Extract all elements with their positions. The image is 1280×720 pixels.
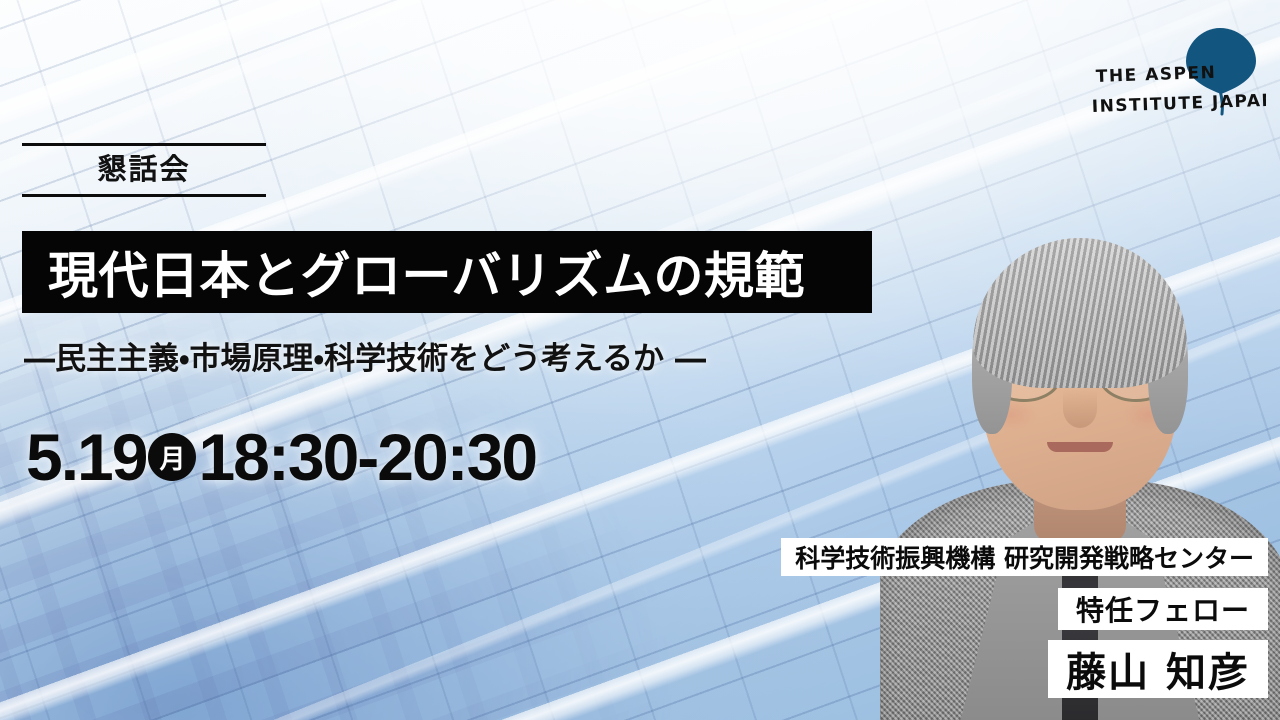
speaker-name: 藤山 知彦 xyxy=(1048,640,1268,698)
kicker-banner: 懇話会 xyxy=(22,143,266,197)
day-of-week-badge: 月 xyxy=(148,433,196,481)
speaker-portrait-photo xyxy=(880,160,1280,720)
page-title: 現代日本とグローバリズムの規範 xyxy=(22,236,805,308)
page-subtitle: ―民主主義・市場原理・科学技術をどう考えるか ― xyxy=(24,333,706,378)
logo-line-2: INSTITUTE JAPAN xyxy=(1091,91,1266,117)
title-bar: 現代日本とグローバリズムの規範 xyxy=(22,231,872,313)
speaker-organization: 科学技術振興機構 研究開発戦略センター xyxy=(781,538,1268,576)
portrait-mouth xyxy=(1047,442,1113,452)
aspen-institute-japan-logo: THE ASPEN INSTITUTE JAPAN xyxy=(1090,16,1266,128)
event-time: 18:30-20:30 xyxy=(198,424,536,490)
event-poster: THE ASPEN INSTITUTE JAPAN 懇話会 現代日本とグローバリ… xyxy=(0,0,1280,720)
speaker-position: 特任フェロー xyxy=(1058,588,1268,630)
event-date: 5.19 xyxy=(26,424,146,490)
kicker-label: 懇話会 xyxy=(22,146,266,194)
event-datetime: 5.19 月 18:30-20:30 xyxy=(26,424,536,490)
logo-line-1: THE ASPEN xyxy=(1095,63,1216,87)
portrait-hair xyxy=(973,238,1187,388)
